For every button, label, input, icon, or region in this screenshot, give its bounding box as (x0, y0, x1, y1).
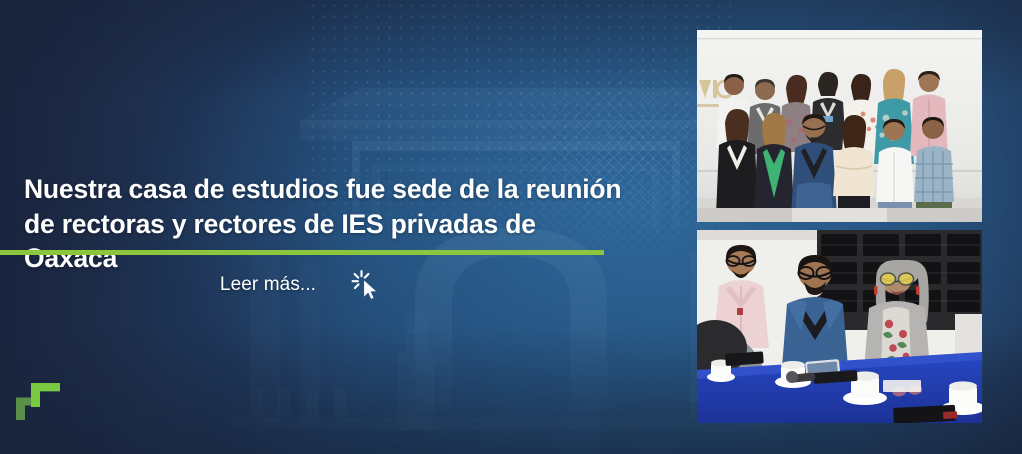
click-cursor-icon (350, 268, 384, 302)
news-banner: Nuestra casa de estudios fue sede de la … (0, 0, 1022, 454)
read-more-cta[interactable]: Leer más... (0, 262, 604, 308)
roundtable-meeting-photo (697, 230, 982, 423)
logo-shape-light (31, 383, 60, 407)
banner-headline: Nuestra casa de estudios fue sede de la … (24, 172, 624, 276)
group-photo-rectors (697, 30, 982, 222)
green-chevron-logo (16, 383, 60, 420)
accent-divider (0, 250, 604, 255)
read-more-label[interactable]: Leer más... (220, 274, 316, 296)
